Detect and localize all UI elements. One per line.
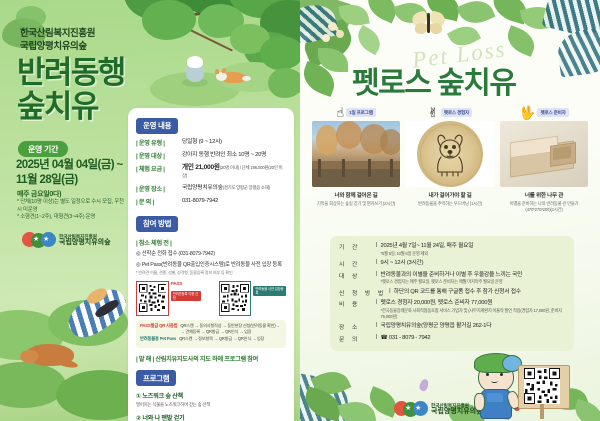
column-badge: 1일 프로그램 (346, 108, 376, 117)
photo-wood-slice-dog-portrait (406, 121, 494, 187)
hand-gesture-icon: ✌ (428, 106, 439, 119)
program-title: ② 너와 나 맨발 걷기 (136, 413, 286, 421)
qr-step-row: 반려동물용 Pet Pass QR스캔 → 정보항목 → QR발급 → QR인식… (140, 336, 282, 342)
operation-row-key: | 체험 요금 | (136, 164, 182, 173)
column-badge: 펫로스 경험자 (441, 108, 472, 117)
operation-row: | 체험 요금 | 개인 21,000원(20명 이내) / 단체 196,00… (136, 164, 286, 180)
photo-caption-desc: 기억을 회상하는 숲길 걷기 및 편지쓰기 (2시간) (312, 201, 400, 207)
column-header: ☝ 1일 프로그램 (312, 104, 400, 121)
operation-contact-value: 031-8079-7942 (182, 197, 218, 205)
organization-name: 한국산림복지진흥원 국립양평치유의숲 (20, 28, 95, 53)
info-row: 장 소 | 국립양평치유의숲(양평군 양평읍 활거길 262-1다 (339, 322, 565, 331)
program-desc: 멀어지는 식물을 노즈워크하며 걷는 숲 산책 (136, 402, 286, 408)
period-date-line-1: 2025년 04월 04일(금) ~ (16, 158, 123, 173)
qr-step-text: QR스캔 → 동의사항작성 → 동반현장 신청(반려동물 확인)→ → 견체등록… (180, 323, 282, 334)
mascot-with-qr-sign (472, 353, 584, 419)
info-row-value: 펫로스 경험자 20,000원, 펫로스 준비자 77,000원 *한국동물장례… (381, 299, 565, 320)
program-title: ① 노즈워크 숲 산책 (136, 391, 286, 400)
grass-tuft-decoration-2 (16, 6, 46, 28)
operation-row: | 운영 대상 | 강아지 동행 반려인 최소 10명 ~ 20명 (136, 151, 286, 160)
period-note-2: * 소형견(1~2주), 대형견(3~4주) 운영 (17, 214, 125, 222)
qr-code-image-pass[interactable] (136, 281, 169, 316)
qr-code-group: PASS 반려견등록 이용 신청 (136, 281, 286, 316)
right-poster: Pet Loss 펫로스 숲치유 ☝ 1일 프로그램 (300, 0, 600, 421)
period-label-badge: 운영 기간 (18, 141, 68, 157)
forest-welfare-logo-icon: ★ ★ (22, 232, 56, 248)
hand-gesture-icon: 🖖 (519, 106, 535, 119)
logo-text-main: 국립양평치유의숲 (59, 240, 111, 246)
operation-row: | 운영 유형 | 당일형 (9 ~ 12시) (136, 138, 286, 147)
info-row-text: 국립양평치유의숲(양평군 양평읍 활거길 262-1다 (381, 323, 492, 329)
logo-text: 한국산림복지진흥원 국립양평치유의숲 (59, 234, 111, 246)
operation-place-note: (경기도 양평군 양평읍 소재) (223, 185, 270, 190)
qr-step-text: QR스캔 → 정보항목 → QR발급 → QR인식 → 입장 (179, 336, 264, 342)
guide-row: | 말 해 | 산림치유지도사의 지도 하에 프로그램 참여 (136, 354, 286, 363)
qr-pass-chip: 반려견등록 이용 신청 (171, 291, 201, 301)
qr-petpass-labels: 반려동물 사전 입장등록 (253, 281, 286, 299)
qr-pass-labels: PASS 반려견등록 이용 신청 (171, 281, 201, 304)
org-line-2: 국립양평치유의숲 (20, 41, 95, 54)
meadow-illustration (160, 32, 300, 110)
period-date-line-2: 11월 28일(금) (16, 173, 123, 188)
program-columns: ☝ 1일 프로그램 너와 함께 걸어온 길 기억을 (312, 104, 588, 213)
qr-code-image-right[interactable] (522, 368, 562, 404)
left-poster-logo: ★ ★ 한국산림복지진흥원 국립양평치유의숲 (22, 232, 111, 248)
program-column: 🖖 펫로스 준비자 너를 위한 나무 관 이별을 준비하는 나의 반려동물 관 … (500, 104, 588, 213)
info-row-text: 펫로스 경험자 20,000원, 펫로스 준비자 77,000원 (381, 300, 493, 306)
qr-step-name: PASS발급 QR 사용법 (140, 323, 177, 334)
program-column: ☝ 1일 프로그램 너와 함께 걸어온 길 기억을 (312, 104, 400, 213)
info-row-value: 2025년 4월 7일~ 11월 24일, 매주 월요일 *5월 5일, 10월… (381, 242, 565, 257)
photo-caption: 너를 위한 나무 관 (500, 191, 588, 199)
photo-caption-desc: 반려동물을 추억하는 우드버닝 (1시간) (406, 201, 494, 207)
period-notes: * 단체(10명 이상)는 별도 일정으로 수시 모집, 우천 시 미운영 * … (17, 199, 125, 222)
qr-step-row: PASS발급 QR 사용법 QR스캔 → 동의사항작성 → 동반현장 신청(반려… (140, 323, 282, 334)
info-row-key: 대 상 (339, 271, 373, 280)
info-row-value: 9시 ~ 12시 (3시간) (381, 259, 565, 267)
photo-caption: 너와 함께 걸어온 길 (312, 191, 400, 199)
photo-caption: 내가 걸어가야 할 길 (406, 191, 494, 199)
howto-item: ◎ Pet Pass(반려동물 QR출입인증시스템)로 반려동물 사전 입장 등… (136, 261, 286, 269)
info-row-value: 하단의 QR 코드를 통해 구글폼 접수 후 참가 신청서 접수 (394, 288, 565, 296)
hand-gesture-icon: ☝ (336, 106, 344, 119)
info-row-text: 하단의 QR 코드를 통해 구글폼 접수 후 참가 신청서 접수 (394, 289, 521, 295)
info-row-sub: *한국동물장례문화 사회적협동조합 서비스 가입자 및 (사무지계환지 이율작 … (381, 308, 565, 320)
right-info-card: 기 간 | 2025년 4월 7일~ 11월 24일, 매주 월요일 *5월 5… (330, 236, 574, 351)
operation-row-value: 국립양평치유의숲(경기도 양평군 양평읍 소재) (182, 184, 270, 192)
operation-row-value: 강아지 동행 반려인 최소 10명 ~ 20명 (182, 151, 266, 159)
info-row: 신 청 방 법 | 하단의 QR 코드를 통해 구글폼 접수 후 참가 신청서 … (339, 288, 565, 297)
info-row-text: 반려동물과의 이별을 준비하거나 이별 후 우울감을 느끼는 국민 (381, 272, 523, 278)
photo-wooden-pet-casket (500, 121, 588, 187)
qr-code-petpass[interactable]: 반려동물 사전 입장등록 (219, 281, 286, 316)
info-row-key: 신 청 방 법 (339, 288, 386, 297)
period-note-1: * 단체(10명 이상)는 별도 일정으로 수시 모집, 우천 시 미운영 (17, 199, 125, 214)
column-header: 🖖 펫로스 준비자 (500, 104, 588, 121)
info-row-key: 시 간 (339, 259, 373, 268)
photo-caption-desc: 이별을 준비하는 나의 반려동물 관 만들기(470*270*200)(1시간) (500, 201, 588, 213)
poster-pair-screenshot: 한국산림복지진흥원 국립양평치유의숲 반려동행 숲치유 운영 기간 2025년 … (0, 0, 600, 421)
operation-row: | 운영 장소 | 국립양평치유의숲(경기도 양평군 양평읍 소재) (136, 184, 286, 193)
info-row: 기 간 | 2025년 4월 7일~ 11월 24일, 매주 월요일 *5월 5… (339, 242, 565, 257)
section-program-title: 프로그램 (136, 370, 176, 386)
butterfly-icon (412, 10, 446, 36)
forest-welfare-logo-icon: ★ ★ (394, 401, 428, 417)
title-line-1: 반려동행 (17, 56, 125, 90)
program-item: ① 노즈워크 숲 산책 멀어지는 식물을 노즈워크하며 걷는 숲 산책 (136, 391, 286, 408)
right-poster-title: 펫로스 숲치유 (352, 58, 515, 102)
program-column: ✌ 펫로스 경험자 (406, 104, 494, 213)
left-info-card: 운영 내용 | 운영 유형 | 당일형 (9 ~ 12시) | 운영 대상 | … (128, 108, 294, 421)
operation-row-key: | 운영 유형 | (136, 138, 182, 147)
org-line-1: 한국산림복지진흥원 (20, 28, 95, 41)
column-header: ✌ 펫로스 경험자 (406, 104, 494, 121)
info-row-sub: *펫로스 경험자는 매주 월요일, 펫로스 준비자는 매월 마지막주 월요일 운… (381, 279, 565, 285)
qr-steps-box: PASS발급 QR 사용법 QR스캔 → 동의사항작성 → 동반현장 신청(반려… (136, 320, 286, 348)
howto-note: * 반려견 이름, 견종, 성별, 성격형, 동물등록 정보 여부 등 확인 (136, 270, 286, 276)
info-row-value: 국립양평치유의숲(양평군 양평읍 활거길 262-1다 (381, 322, 565, 330)
title-line-2: 숲치유 (17, 90, 125, 124)
operation-place-value: 국립양평치유의숲 (182, 185, 223, 191)
howto-item: ◎ 선착순 전화 접수 (031-8079-7942) (136, 250, 286, 258)
right-poster-logo: ★ ★ 한국산림복지진흥원 국립양평치유의숲 (394, 401, 483, 417)
column-badge: 펫로스 준비자 (537, 108, 568, 117)
operation-row-key: | 운영 장소 | (136, 184, 182, 193)
info-row-text: 9시 ~ 12시 (3시간) (381, 260, 424, 266)
info-row: 시 간 | 9시 ~ 12시 (3시간) (339, 259, 565, 268)
every-friday-note: 매주 금요일0다) (17, 189, 61, 199)
qr-code-pass[interactable]: PASS 반려견등록 이용 신청 (136, 281, 201, 316)
operation-row: | 문 의 | 031-8079-7942 (136, 197, 286, 206)
info-row-key: 장 소 (339, 322, 373, 331)
left-poster-title: 반려동행 숲치유 (17, 56, 125, 124)
info-row: 비 용 | 펫로스 경험자 20,000원, 펫로스 준비자 77,000원 *… (339, 299, 565, 320)
info-row-key: 기 간 (339, 242, 373, 251)
period-dates: 2025년 04월 04일(금) ~ 11월 28일(금) (16, 158, 123, 188)
photo-autumn-forest-walkway (312, 121, 400, 187)
section-howto-title: 참여 방법 (136, 216, 178, 232)
operation-row-value: 당일형 (9 ~ 12시) (182, 138, 222, 146)
section-operation-title: 운영 내용 (136, 118, 178, 134)
howto-heading: | 참소 체험 전 | (136, 238, 286, 247)
left-poster: 한국산림복지진흥원 국립양평치유의숲 반려동행 숲치유 운영 기간 2025년 … (0, 0, 300, 421)
info-row: 대 상 | 반려동물과의 이별을 준비하거나 이별 후 우울감을 느끼는 국민 … (339, 271, 565, 286)
info-row-sub: *5월 5일, 10월 6일 운영 제외 (381, 251, 565, 257)
qr-petpass-chip: 반려동물 사전 입장등록 (253, 286, 286, 296)
info-row-value: 반려동물과의 이별을 준비하거나 이별 후 우울감을 느끼는 국민 *펫로스 경… (381, 271, 565, 286)
qr-code-image-petpass[interactable] (219, 281, 252, 316)
operation-row-value: 개인 21,000원(20명 이내) / 단체 196,000원(20인 이상) (182, 164, 286, 180)
operation-fee-value: 개인 21,000원 (182, 164, 220, 171)
operation-row-key: | 문 의 | (136, 197, 182, 206)
info-row-key: 비 용 (339, 299, 373, 308)
operation-row-key: | 운영 대상 | (136, 151, 182, 160)
qr-pass-label: PASS (171, 281, 201, 286)
hammock-illustration (0, 300, 144, 421)
program-item: ② 너와 나 맨발 걷기 반려견 함께하는 반려동물과 같은 치유소로 함께 걸… (136, 413, 286, 421)
qr-step-name: 반려동물용 Pet Pass (140, 336, 176, 342)
info-row-text: 2025년 4월 7일~ 11월 24일, 매주 월요일 (381, 243, 474, 249)
